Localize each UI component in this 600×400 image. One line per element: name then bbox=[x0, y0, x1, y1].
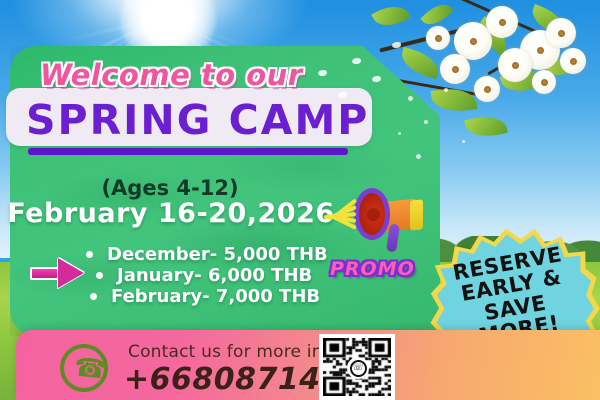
blossom-center bbox=[541, 79, 548, 86]
whatsapp-glyph: ☏ bbox=[350, 360, 367, 377]
sparkle bbox=[416, 154, 421, 159]
qr-matrix: ☏ bbox=[323, 338, 391, 396]
leaf-icon bbox=[464, 112, 507, 141]
bullet-icon bbox=[90, 293, 97, 300]
price-text: February- 7,000 THB bbox=[111, 286, 320, 307]
price-row: February- 7,000 THB bbox=[86, 286, 356, 307]
price-row: December- 5,000 THB bbox=[86, 244, 356, 265]
promo-badge: PROMO bbox=[330, 258, 415, 280]
whatsapp-logo-icon: ☏ bbox=[347, 357, 369, 379]
contact-label: Contact us for more info bbox=[128, 342, 339, 362]
title-underline bbox=[28, 148, 348, 155]
sparkle bbox=[444, 88, 448, 92]
price-text: December- 5,000 THB bbox=[107, 244, 328, 265]
age-range-label: (Ages 4-12) bbox=[20, 176, 320, 200]
blossom-center bbox=[537, 47, 544, 54]
blossom-center bbox=[452, 66, 459, 73]
blossom-center bbox=[484, 86, 491, 93]
blossom-center bbox=[512, 62, 519, 69]
blossom-center bbox=[570, 58, 577, 65]
page-title: SPRING CAMP bbox=[26, 96, 366, 144]
phone-glyph: ☎ bbox=[73, 354, 108, 383]
camp-dates: February 16-20,2026 bbox=[6, 198, 336, 229]
bullet-icon bbox=[96, 272, 103, 279]
bullet-icon bbox=[86, 251, 93, 258]
sparkle bbox=[398, 132, 401, 135]
price-row: January- 6,000 THB bbox=[86, 265, 356, 286]
contact-banner: ☎ Contact us for more info +66808714842 bbox=[16, 330, 600, 400]
phone-handset-icon: ☎ bbox=[60, 344, 108, 392]
sparkle bbox=[462, 140, 465, 143]
leaf-icon bbox=[398, 47, 443, 79]
sparkle bbox=[408, 96, 413, 101]
arrow-head bbox=[58, 258, 84, 288]
blossom-center bbox=[558, 30, 565, 37]
megaphone-inner bbox=[367, 208, 380, 221]
megaphone-band bbox=[410, 199, 423, 230]
price-text: January- 6,000 THB bbox=[117, 265, 312, 286]
whatsapp-qr-code[interactable]: ☏ bbox=[319, 334, 395, 400]
blossom-center bbox=[470, 38, 477, 45]
blossom-center bbox=[435, 35, 442, 42]
sparkle bbox=[424, 120, 428, 124]
leaf-icon bbox=[431, 85, 478, 115]
right-arrow-icon bbox=[30, 258, 86, 288]
price-list: December- 5,000 THBJanuary- 6,000 THBFeb… bbox=[86, 244, 356, 307]
leaf-icon bbox=[371, 0, 410, 32]
blossom-center bbox=[499, 19, 506, 26]
spring-camp-flyer: Welcome to our SPRING CAMP (Ages 4-12) F… bbox=[0, 0, 600, 400]
